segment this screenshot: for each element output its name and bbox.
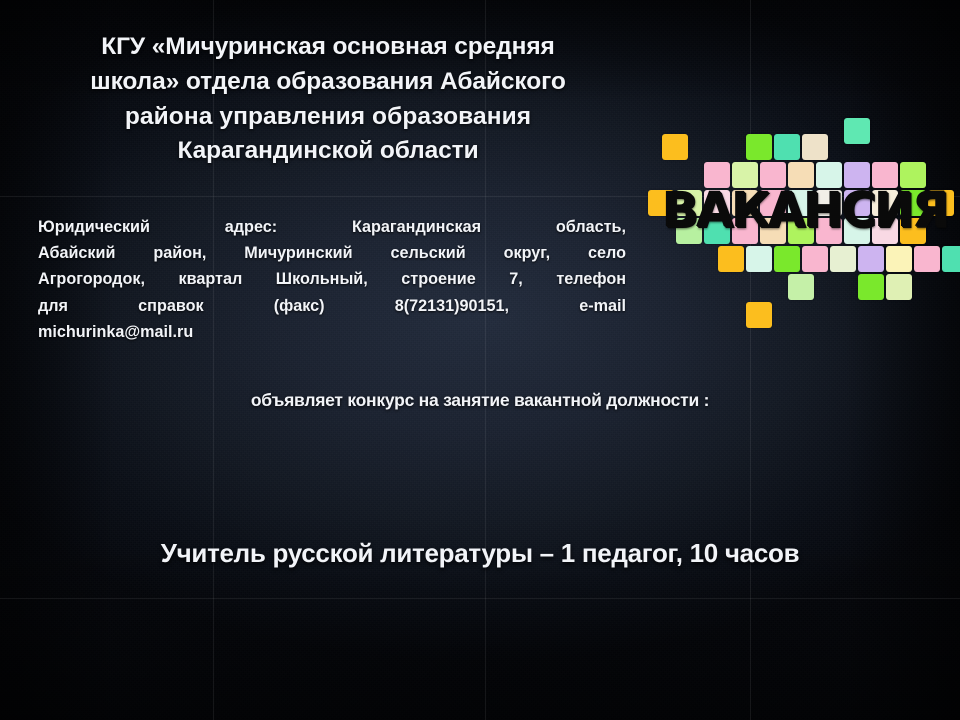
mosaic-tile bbox=[802, 246, 828, 272]
page-title-line-4: Карагандинской области bbox=[28, 134, 628, 169]
legal-address-line-4: для справок (факс) 8(72131)90151, e-mail bbox=[38, 293, 626, 319]
mosaic-tile bbox=[732, 162, 758, 188]
mosaic-tile bbox=[676, 190, 702, 216]
mosaic-tile bbox=[872, 190, 898, 216]
legal-address-line-2: Абайский район, Мичуринский сельский окр… bbox=[38, 240, 626, 266]
mosaic-tile bbox=[704, 218, 730, 244]
mosaic-tile bbox=[872, 162, 898, 188]
vacancy-mosaic-graphic: ВАКАНСИЯ bbox=[648, 112, 960, 312]
mosaic-tile bbox=[774, 134, 800, 160]
mosaic-tile bbox=[788, 218, 814, 244]
announcement-text: объявляет конкурс на занятие вакантной д… bbox=[0, 390, 960, 411]
mosaic-tile bbox=[746, 134, 772, 160]
mosaic-tile bbox=[844, 118, 870, 144]
mosaic-tile bbox=[830, 246, 856, 272]
mosaic-tile bbox=[844, 162, 870, 188]
mosaic-tile bbox=[788, 274, 814, 300]
mosaic-tile bbox=[816, 218, 842, 244]
legal-address-email: michurinka@mail.ru bbox=[38, 319, 626, 345]
mosaic-tile bbox=[746, 246, 772, 272]
page-title-line-2: школа» отдела образования Абайского bbox=[28, 65, 628, 100]
mosaic-tile bbox=[900, 218, 926, 244]
mosaic-tile bbox=[900, 162, 926, 188]
mosaic-tile bbox=[844, 218, 870, 244]
mosaic-tile bbox=[816, 190, 842, 216]
mosaic-tile bbox=[942, 246, 960, 272]
mosaic-tile bbox=[760, 218, 786, 244]
mosaic-tile bbox=[844, 190, 870, 216]
mosaic-tile bbox=[802, 134, 828, 160]
legal-address-block: Юридический адрес: Карагандинская област… bbox=[38, 214, 626, 345]
mosaic-tile bbox=[662, 134, 688, 160]
page-title-line-1: КГУ «Мичуринская основная средняя bbox=[28, 30, 628, 65]
mosaic-tile bbox=[760, 190, 786, 216]
mosaic-tile bbox=[718, 246, 744, 272]
mosaic-tile bbox=[858, 274, 884, 300]
mosaic-tile bbox=[774, 246, 800, 272]
mosaic-tile bbox=[858, 246, 884, 272]
mosaic-tile bbox=[732, 190, 758, 216]
slide-canvas: КГУ «Мичуринская основная средняя школа»… bbox=[0, 0, 960, 720]
page-title-line-3: района управления образования bbox=[28, 100, 628, 135]
mosaic-tile bbox=[886, 274, 912, 300]
mosaic-tile bbox=[648, 190, 674, 216]
mosaic-tile bbox=[704, 190, 730, 216]
page-title: КГУ «Мичуринская основная средняя школа»… bbox=[28, 30, 628, 169]
mosaic-tile bbox=[676, 218, 702, 244]
mosaic-tile bbox=[914, 246, 940, 272]
mosaic-tile bbox=[760, 162, 786, 188]
mosaic-tile bbox=[886, 246, 912, 272]
mosaic-tile bbox=[928, 190, 954, 216]
mosaic-tile bbox=[788, 190, 814, 216]
vacant-position-text: Учитель русской литературы – 1 педагог, … bbox=[0, 538, 960, 569]
legal-address-line-1: Юридический адрес: Карагандинская област… bbox=[38, 214, 626, 240]
legal-address-line-3: Агрогородок, квартал Школьный, строение … bbox=[38, 266, 626, 292]
mosaic-tile bbox=[704, 162, 730, 188]
mosaic-tile bbox=[788, 162, 814, 188]
mosaic-tile bbox=[746, 302, 772, 328]
mosaic-tile bbox=[816, 162, 842, 188]
mosaic-tile bbox=[900, 190, 926, 216]
mosaic-tile bbox=[732, 218, 758, 244]
mosaic-tile bbox=[872, 218, 898, 244]
